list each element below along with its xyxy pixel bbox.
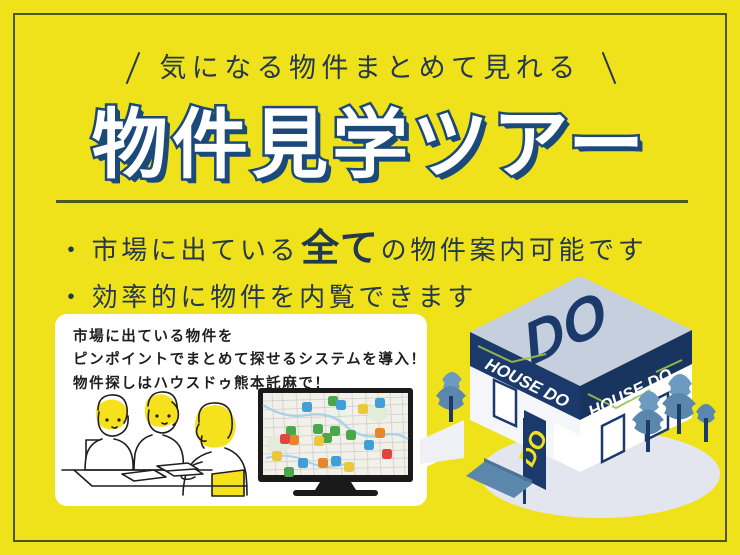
map-monitor-illustration (258, 388, 413, 498)
card-line-1: 市場に出ている物件を (73, 326, 417, 349)
tree-right-small (696, 404, 716, 442)
title-divider (56, 200, 688, 203)
card-line-2: ピンポイントでまとめて探せるシステムを導入！ (73, 349, 417, 372)
title-wrap: 物件見学ツアー (0, 98, 740, 194)
tree-left (436, 372, 466, 422)
left-slash-icon (119, 51, 145, 85)
kicker-text: 気になる物件まとめて見れる (159, 55, 580, 82)
bullet-emphasis: 全て (301, 220, 379, 279)
page-title: 物件見学ツアー (92, 108, 649, 184)
kicker-row: 気になる物件まとめて見れる (0, 46, 740, 90)
house-do-store-illustration: DO HOUSE DO HOUSE DO DO (420, 268, 740, 530)
bullet-marker: ・ (58, 277, 88, 317)
bullet-lead: 市場に出ている (92, 230, 299, 270)
monitor-stand-base (293, 490, 378, 496)
poster-canvas: 気になる物件まとめて見れる 物件見学ツアー ・ 市場に出ている 全て の物件案内… (0, 0, 740, 555)
monitor-stand-neck (315, 482, 356, 490)
bullet-tail: の物件案内可能です (381, 230, 648, 270)
consultation-illustration (62, 382, 247, 497)
bullet-marker: ・ (58, 230, 88, 270)
right-slash-icon (595, 51, 621, 85)
